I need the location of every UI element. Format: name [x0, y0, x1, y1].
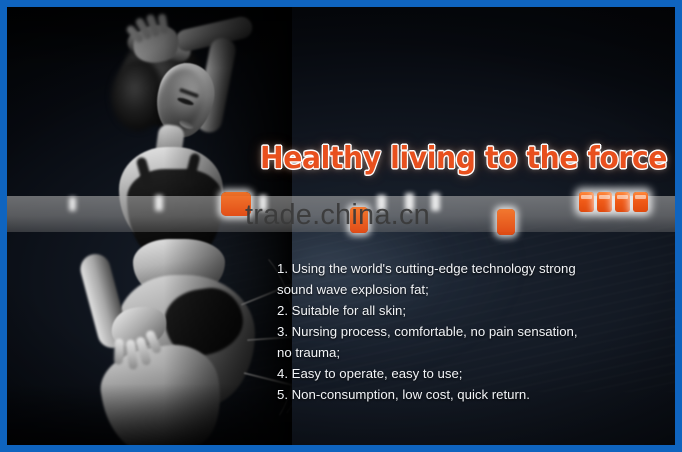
feature-line: 1. Using the world's cutting-edge techno… — [277, 258, 622, 279]
hair-shape-secondary — [111, 59, 163, 131]
feature-list: 1. Using the world's cutting-edge techno… — [277, 258, 622, 405]
feature-line: 3. Nursing process, comfortable, no pain… — [277, 321, 622, 342]
feature-line: sound wave explosion fat; — [277, 279, 622, 300]
advertisement-poster: Healthy living to the force 1. Using the… — [0, 0, 682, 452]
watermark-logo-mark — [497, 209, 515, 235]
watermark-glow — [155, 195, 163, 211]
watermark-block — [597, 192, 612, 212]
feature-line: 5. Non-consumption, low cost, quick retu… — [277, 384, 622, 405]
watermark-block — [633, 192, 648, 212]
blue-border-frame: Healthy living to the force 1. Using the… — [0, 0, 682, 452]
feature-line: 2. Suitable for all skin; — [277, 300, 622, 321]
watermark-block — [615, 192, 630, 212]
page-title: Healthy living to the force — [260, 141, 647, 176]
watermark-glow — [69, 197, 76, 211]
poster-canvas: Healthy living to the force 1. Using the… — [7, 7, 675, 445]
watermark-text: trade.china.cn — [245, 199, 430, 232]
watermark-glow — [431, 193, 440, 211]
feature-line: 4. Easy to operate, easy to use; — [277, 363, 622, 384]
feature-line: no trauma; — [277, 342, 622, 363]
watermark-block — [579, 192, 594, 212]
